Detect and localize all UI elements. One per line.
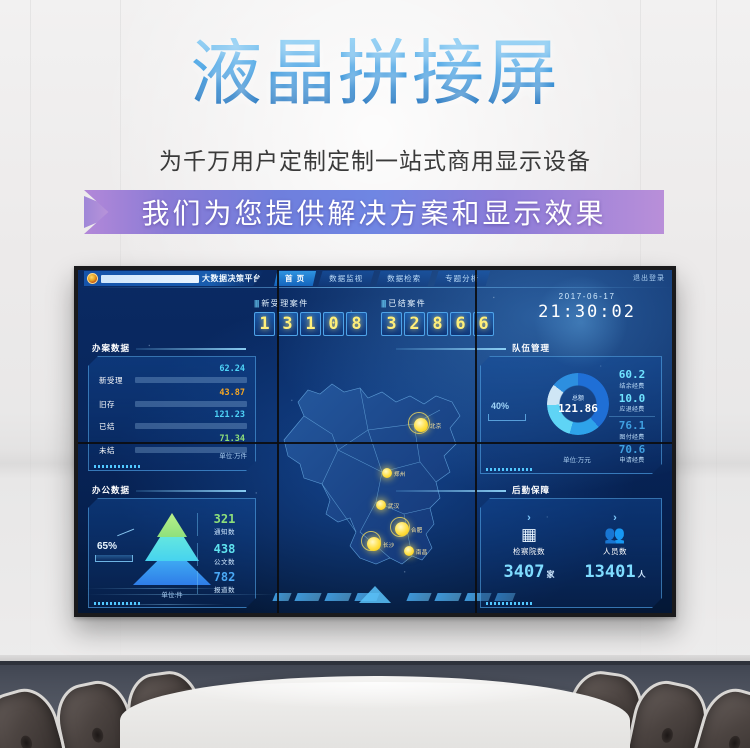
- logistics-cell-0[interactable]: ›▦检察院数3407家: [485, 513, 573, 582]
- brand-title: 大数据决策平台: [202, 273, 262, 284]
- panel-decoration: [486, 468, 534, 471]
- case-data-panel: 新受理62.24旧存43.87已结121.23未结71.34 单位:万件: [88, 356, 256, 471]
- legend-value: 60.2: [609, 369, 655, 381]
- office-unit-label: 单位:件: [161, 589, 182, 599]
- team-unit-label: 单位:万元: [563, 454, 591, 464]
- counter-digit: 8: [427, 312, 448, 336]
- office-stat-value: 321: [202, 513, 247, 526]
- donut-legend: 60.2结余经费10.0应退经费76.1图付经费70.6申请经费: [609, 369, 655, 467]
- legend-value: 76.1: [609, 420, 655, 432]
- brand-block: 大数据决策平台: [84, 271, 264, 286]
- chevron-right-icon: ›: [571, 513, 659, 524]
- team-panel-title: 队伍管理: [512, 342, 550, 354]
- office-stat-value: 782: [202, 571, 247, 584]
- main-nav: 首 页数据监视数据检索专题分析: [274, 271, 490, 286]
- legend-value: 10.0: [609, 393, 655, 405]
- map-marker-label: 郑州: [394, 470, 406, 478]
- counter-bars-icon: ||||: [381, 299, 385, 308]
- page-title: 液晶拼接屏: [0, 38, 750, 110]
- wall-seam: [716, 0, 717, 748]
- office-stat-value: 438: [202, 543, 247, 556]
- dashboard-screen: 北京郑州武汉合肥长沙南昌 大数据决策平台 首 页数据监视数据检索专题分析 退出登…: [78, 270, 672, 613]
- clock-time: 21:30:02: [538, 302, 636, 322]
- counter-digit: 1: [300, 312, 321, 336]
- legend-separator: [609, 416, 655, 417]
- map-marker[interactable]: [404, 546, 414, 556]
- counter-title: ||||新受理案件: [254, 298, 367, 309]
- counter-digit: 3: [381, 312, 402, 336]
- map-marker[interactable]: [395, 522, 409, 536]
- bar-value: 43.87: [219, 388, 245, 398]
- wall-seam: [30, 0, 31, 748]
- legend-item-0: 60.2结余经费: [609, 369, 655, 390]
- nav-item-2[interactable]: 数据检索: [376, 271, 432, 286]
- counter-digit: 2: [404, 312, 425, 336]
- office-stat: 782报道数: [197, 571, 247, 594]
- logistics-panel-title: 后勤保障: [512, 484, 550, 496]
- bar-value: 62.24: [219, 364, 245, 374]
- bar-label: 未结: [99, 445, 115, 456]
- wall-bezel-horizontal: [78, 442, 672, 444]
- chevron-right-icon: ›: [485, 513, 573, 524]
- legend-item-3: 70.6申请经费: [609, 444, 655, 465]
- counter-digit: 3: [277, 312, 298, 336]
- donut-total-caption: 总额: [572, 393, 584, 402]
- team-management-panel: 40% 总额 121.86 单位:万元 60.2结余经费10.0应退经费76.1…: [480, 356, 662, 474]
- office-stat: 438公文数: [197, 543, 247, 566]
- page-subtitle: 为千万用户定制定制一站式商用显示设备: [0, 142, 750, 176]
- case-bar-row: 新受理62.24: [99, 373, 247, 385]
- office-stat-caption: 公文数: [202, 556, 247, 566]
- promo-ribbon: 我们为您提供解决方案和显示效果: [84, 190, 664, 234]
- logistics-value: 13401人: [571, 562, 659, 582]
- office-panel-title: 办公数据: [92, 484, 130, 496]
- counter-digit: 8: [346, 312, 367, 336]
- ribbon-text: 我们为您提供解决方案和显示效果: [141, 192, 606, 232]
- bar-label: 旧存: [99, 399, 115, 410]
- bar-label: 已结: [99, 421, 115, 432]
- counter-digit: 1: [254, 312, 275, 336]
- panel-decoration: [94, 465, 142, 468]
- counter-digit: 6: [450, 312, 471, 336]
- map-marker-label: 长沙: [383, 541, 395, 549]
- office-data-panel: 65% 单位:件 321通知数438公文数782报道数: [88, 498, 256, 608]
- office-stat-caption: 报道数: [202, 584, 247, 594]
- nav-item-3[interactable]: 专题分析: [434, 271, 490, 286]
- map-marker[interactable]: [376, 500, 386, 510]
- bar-value: 121.23: [214, 410, 245, 420]
- legend-item-2: 76.1图付经费: [609, 420, 655, 441]
- logistics-caption: 检察院数: [485, 546, 573, 557]
- legend-value: 70.6: [609, 444, 655, 456]
- logistics-panel: ›▦检察院数3407家›👥人员数13401人: [480, 498, 662, 608]
- case-bar-row: 已结121.23: [99, 419, 247, 431]
- nav-item-1[interactable]: 数据监视: [318, 271, 374, 286]
- panel-decoration: [94, 602, 142, 605]
- bar-track: [135, 377, 247, 383]
- counter-group-0: ||||新受理案件13108: [254, 298, 367, 336]
- national-emblem-icon: [87, 273, 98, 284]
- case-panel-title: 办案数据: [92, 342, 130, 354]
- clock-widget: 2017-06-17 21:30:02: [538, 292, 636, 322]
- china-map[interactable]: 北京郑州武汉合肥长沙南昌: [264, 332, 506, 582]
- building-icon: ▦: [485, 526, 573, 543]
- donut-total-value: 121.86: [558, 402, 598, 415]
- pyramid-tier-middle: [145, 537, 199, 561]
- office-stat-caption: 通知数: [202, 526, 247, 536]
- map-marker-label: 合肥: [411, 526, 423, 534]
- map-marker[interactable]: [382, 468, 392, 478]
- case-unit-label: 单位:万件: [219, 450, 247, 460]
- counter-digits: 13108: [254, 312, 367, 336]
- logout-button[interactable]: 退出登录: [633, 273, 665, 283]
- counter-digit: 0: [323, 312, 344, 336]
- legend-caption: 图付经费: [609, 432, 655, 441]
- clock-date: 2017-06-17: [538, 292, 636, 301]
- people-icon: 👥: [571, 526, 659, 543]
- logistics-value: 3407家: [485, 562, 573, 582]
- decoration-triangle: [359, 586, 391, 603]
- clock-halo: [522, 276, 640, 368]
- map-marker-label: 南昌: [416, 548, 428, 556]
- video-wall: 北京郑州武汉合肥长沙南昌 大数据决策平台 首 页数据监视数据检索专题分析 退出登…: [74, 266, 676, 617]
- pyramid-tier-top: [157, 513, 187, 537]
- bar-label: 新受理: [99, 375, 123, 386]
- legend-item-1: 10.0应退经费: [609, 393, 655, 414]
- legend-caption: 应退经费: [609, 404, 655, 413]
- logistics-unit: 家: [546, 570, 554, 579]
- map-marker[interactable]: [367, 537, 381, 551]
- nav-item-0[interactable]: 首 页: [274, 271, 316, 286]
- bar-track: [135, 401, 247, 407]
- map-marker-label: 北京: [430, 422, 442, 430]
- legend-caption: 申请经费: [609, 455, 655, 464]
- map-marker-label: 武汉: [388, 502, 400, 510]
- counter-bars-icon: ||||: [254, 299, 258, 308]
- donut-center-label: 总额 121.86: [547, 373, 609, 435]
- panel-decoration: [486, 602, 534, 605]
- brand-placeholder-bar: [101, 275, 199, 283]
- map-marker[interactable]: [414, 418, 428, 432]
- office-stat: 321通知数: [197, 513, 247, 536]
- case-bar-row: 旧存43.87: [99, 397, 247, 409]
- logistics-cell-1[interactable]: ›👥人员数13401人: [571, 513, 659, 582]
- team-percent-badge: 40%: [491, 401, 509, 411]
- bar-track: [135, 423, 247, 429]
- office-percent-badge: 65%: [97, 541, 117, 552]
- logistics-caption: 人员数: [571, 546, 659, 557]
- logistics-unit: 人: [638, 570, 646, 579]
- legend-caption: 结余经费: [609, 381, 655, 390]
